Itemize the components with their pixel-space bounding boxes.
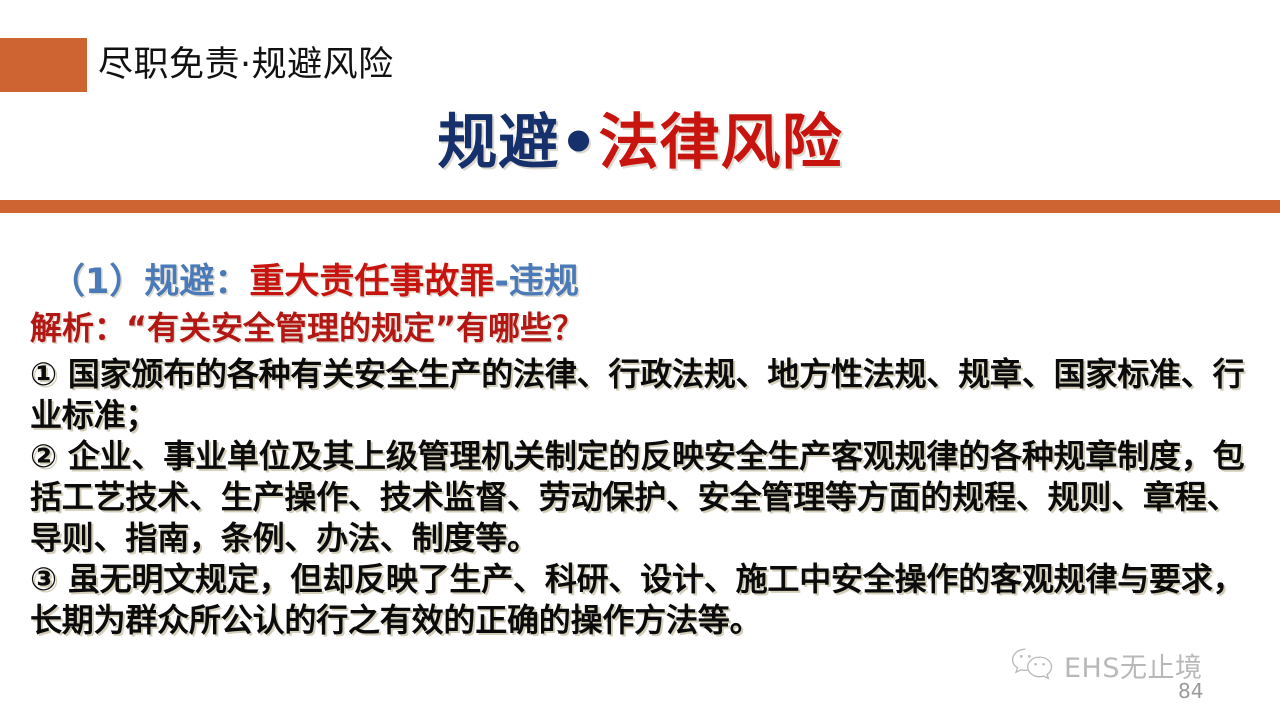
- content-paragraph-2: ② 企业、事业单位及其上级管理机关制定的反映安全生产客观规律的各种规章制度，包括…: [30, 436, 1270, 559]
- header-accent-block: [0, 38, 87, 92]
- page-title: 规避•法律风险: [0, 104, 1280, 182]
- orange-divider: [0, 200, 1280, 213]
- content-subtitle-prefix: （1）规避：: [50, 262, 249, 302]
- content-paragraph-3: ③ 虽无明文规定，但却反映了生产、科研、设计、施工中安全操作的客观规律与要求，长…: [30, 559, 1270, 641]
- content-paragraph-1: ① 国家颁布的各种有关安全生产的法律、行政法规、地方性法规、规章、国家标准、行业…: [30, 354, 1270, 436]
- content-subtitle-suffix: -违规: [494, 262, 579, 302]
- page-title-part2: 法律风险: [599, 108, 843, 178]
- content-body: （1）规避：重大责任事故罪-违规 解析：“有关安全管理的规定”有哪些？ ① 国家…: [30, 258, 1270, 641]
- watermark: EHS无止境: [1010, 646, 1203, 685]
- page-title-separator: •: [559, 108, 598, 178]
- content-analysis-line: 解析：“有关安全管理的规定”有哪些？: [30, 306, 1270, 350]
- wechat-icon: [1010, 647, 1056, 685]
- page-number: 84: [1178, 679, 1203, 703]
- slide-canvas: 尽职免责·规避风险 规避•法律风险 （1）规避：重大责任事故罪-违规 解析：“有…: [0, 0, 1280, 720]
- content-subtitle: （1）规避：重大责任事故罪-违规: [30, 258, 1270, 306]
- page-title-part1: 规避: [437, 108, 559, 178]
- content-subtitle-highlight: 重大责任事故罪: [249, 262, 494, 302]
- header-title: 尽职免责·规避风险: [98, 38, 394, 92]
